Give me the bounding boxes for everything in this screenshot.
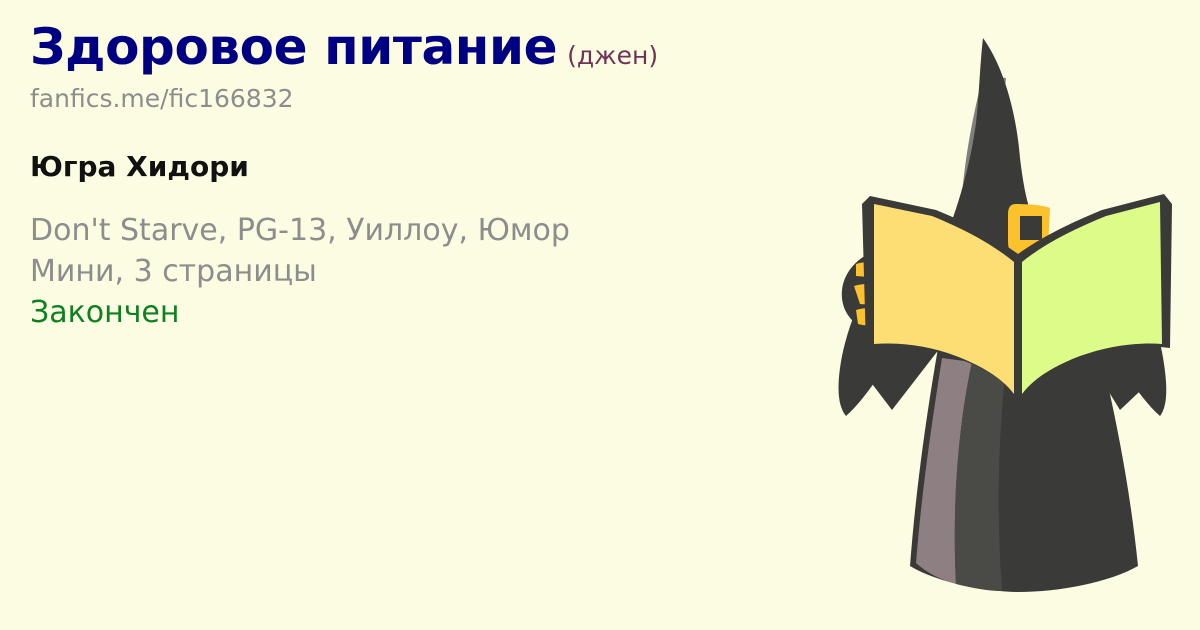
page-title: Здоровое питание [30, 18, 557, 76]
genre-tag: (джен) [567, 41, 658, 70]
book-spine-shape [1014, 259, 1022, 399]
source-url[interactable]: fanfics.me/fic166832 [30, 85, 800, 113]
author-name[interactable]: Югра Хидори [30, 152, 800, 183]
witch-reading-book-illustration [820, 18, 1192, 618]
title-row: Здоровое питание(джен) [30, 22, 800, 72]
status-badge: Закончен [30, 292, 800, 333]
text-column: Здоровое питание(джен) fanfics.me/fic166… [30, 22, 800, 334]
work-metadata: Don't Starve, PG-13, Уиллоу, Юмор Мини, … [30, 210, 800, 333]
meta-line-fandom-rating-characters-genre: Don't Starve, PG-13, Уиллоу, Юмор [30, 210, 800, 251]
fanfic-preview-card: Здоровое питание(джен) fanfics.me/fic166… [0, 0, 1200, 630]
meta-line-size-pages: Мини, 3 страницы [30, 251, 800, 292]
